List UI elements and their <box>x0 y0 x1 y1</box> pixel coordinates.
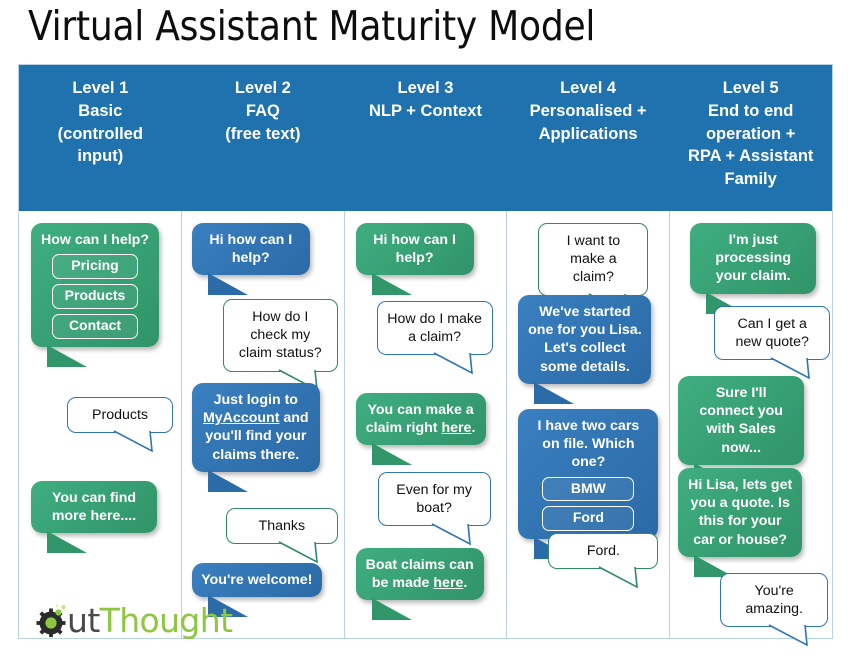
bot-message-bubble: Hi how can I help? <box>356 223 474 275</box>
user-message-bubble: You're amazing. <box>720 573 828 627</box>
bot-message-bubble: Hi Lisa, lets get you a quote. Is this f… <box>678 468 802 557</box>
header-line: RPA + Assistant <box>674 145 827 168</box>
header-line: input) <box>24 145 177 168</box>
user-message-bubble: Can I get a new quote? <box>714 306 830 360</box>
bubble-tail <box>430 523 474 546</box>
bubble-tail <box>597 566 641 589</box>
user-message-bubble: Thanks <box>226 508 338 544</box>
bot-message-bubble: You can find more here.... <box>31 481 157 533</box>
bubble-text: I have two cars on file. Which one? <box>527 417 649 472</box>
bot-message-bubble: I'm just processing your claim. <box>690 223 816 294</box>
bot-message-bubble: You can make a claim right here. <box>356 393 486 445</box>
conversation-column-level-5: I'm just processing your claim. Can I ge… <box>669 211 832 638</box>
conversation-column-level-1: How can I help? Pricing Products Contact… <box>19 211 181 638</box>
bot-message-bubble: How can I help? Pricing Products Contact <box>31 223 159 347</box>
header-line: Level 2 <box>187 77 340 100</box>
bubble-tail <box>432 352 476 375</box>
bubble-text: Thanks <box>236 517 328 535</box>
matrix-header-row: Level 1 Basic (controlled input) Level 2… <box>19 65 832 211</box>
bubble-text: How can I help? <box>40 231 150 249</box>
bubble-text: Just login to MyAccount and you'll find … <box>201 391 311 464</box>
user-message-bubble: How do I make a claim? <box>377 301 493 355</box>
header-line: (free text) <box>187 123 340 146</box>
matrix-body-row: How can I help? Pricing Products Contact… <box>19 211 832 638</box>
header-line: End to end <box>674 100 827 123</box>
bot-message-bubble: We've started one for you Lisa. Let's co… <box>518 295 651 384</box>
bubble-text: Can I get a new quote? <box>724 315 820 351</box>
maturity-matrix: Level 1 Basic (controlled input) Level 2… <box>18 64 833 639</box>
conversation-column-level-2: Hi how can I help? How do I check my cla… <box>181 211 344 638</box>
option-chip-ford[interactable]: Ford <box>542 506 634 531</box>
header-line: Level 3 <box>349 77 502 100</box>
bubble-tail <box>277 541 321 564</box>
logo-text: utThought <box>67 604 232 637</box>
inline-link-myaccount[interactable]: MyAccount <box>203 410 279 426</box>
header-line: Family <box>674 168 827 191</box>
column-header-level-3: Level 3 NLP + Context <box>344 65 507 211</box>
bubble-text-part: . <box>471 420 475 436</box>
bubble-text: How do I make a claim? <box>387 310 483 346</box>
conversation-column-level-3: Hi how can I help? How do I make a claim… <box>344 211 507 638</box>
bot-message-bubble: Boat claims can be made here. <box>356 548 484 600</box>
bubble-text: Sure I'll connect you with Sales now... <box>687 384 795 457</box>
brand-logo: utThought <box>36 597 232 643</box>
bubble-text: You can find more here.... <box>40 489 148 525</box>
user-message-bubble: Products <box>67 397 173 433</box>
bubble-text: Products <box>77 406 163 424</box>
bot-message-bubble: Hi how can I help? <box>192 223 310 275</box>
column-header-level-5: Level 5 End to end operation + RPA + Ass… <box>669 65 832 211</box>
option-chip-products[interactable]: Products <box>52 284 138 309</box>
bot-message-bubble: I have two cars on file. Which one? BMW … <box>518 409 658 539</box>
column-header-level-4: Level 4 Personalised + Applications <box>507 65 670 211</box>
header-line: operation + <box>674 123 827 146</box>
bubble-tail <box>767 624 811 647</box>
bubble-text: Even for my boat? <box>388 481 481 517</box>
header-line: FAQ <box>187 100 340 123</box>
gear-icon <box>36 603 70 637</box>
logo-text-thought: Thought <box>100 601 233 640</box>
inline-link-here[interactable]: here <box>441 420 471 436</box>
option-chip-contact[interactable]: Contact <box>52 314 138 339</box>
bubble-text: Hi how can I help? <box>365 231 465 267</box>
bot-message-bubble: You're welcome! <box>192 563 322 597</box>
option-chip-pricing[interactable]: Pricing <box>52 254 138 279</box>
header-line: Level 1 <box>24 77 177 100</box>
user-message-bubble: Ford. <box>548 533 658 569</box>
bubble-text: You can make a claim right here. <box>365 401 477 437</box>
page-title: Virtual Assistant Maturity Model <box>28 2 595 50</box>
user-message-bubble: I want to make a claim? <box>538 223 648 296</box>
header-line: Applications <box>512 123 665 146</box>
bubble-text: How do I check my claim status? <box>233 308 328 363</box>
bubble-text: I'm just processing your claim. <box>699 231 807 286</box>
header-line: (controlled <box>24 123 177 146</box>
bubble-text: Ford. <box>558 542 648 560</box>
column-header-level-1: Level 1 Basic (controlled input) <box>19 65 182 211</box>
header-line: Level 4 <box>512 77 665 100</box>
bubble-text: We've started one for you Lisa. Let's co… <box>527 303 642 376</box>
inline-link-here[interactable]: here <box>433 575 463 591</box>
user-message-bubble: How do I check my claim status? <box>223 299 338 372</box>
header-line: NLP + Context <box>349 100 502 123</box>
bubble-text: I want to make a claim? <box>548 232 638 287</box>
bot-message-bubble: Just login to MyAccount and you'll find … <box>192 383 320 472</box>
header-line: Level 5 <box>674 77 827 100</box>
bubble-tail <box>112 430 156 453</box>
conversation-column-level-4: I want to make a claim? We've started on… <box>506 211 669 638</box>
bubble-text: Boat claims can be made here. <box>365 556 475 592</box>
header-line: Basic <box>24 100 177 123</box>
bubble-text-part: . <box>463 575 467 591</box>
bubble-text: You're amazing. <box>730 582 818 618</box>
logo-text-ut: ut <box>67 601 100 640</box>
bubble-text-part: Just login to <box>214 392 298 408</box>
bot-message-bubble: Sure I'll connect you with Sales now... <box>678 376 804 465</box>
header-line: Personalised + <box>512 100 665 123</box>
bubble-text: You're welcome! <box>201 571 313 589</box>
option-chip-bmw[interactable]: BMW <box>542 477 634 502</box>
column-header-level-2: Level 2 FAQ (free text) <box>182 65 345 211</box>
bubble-text: Hi how can I help? <box>201 231 301 267</box>
user-message-bubble: Even for my boat? <box>378 472 491 526</box>
bubble-text: Hi Lisa, lets get you a quote. Is this f… <box>687 476 793 549</box>
